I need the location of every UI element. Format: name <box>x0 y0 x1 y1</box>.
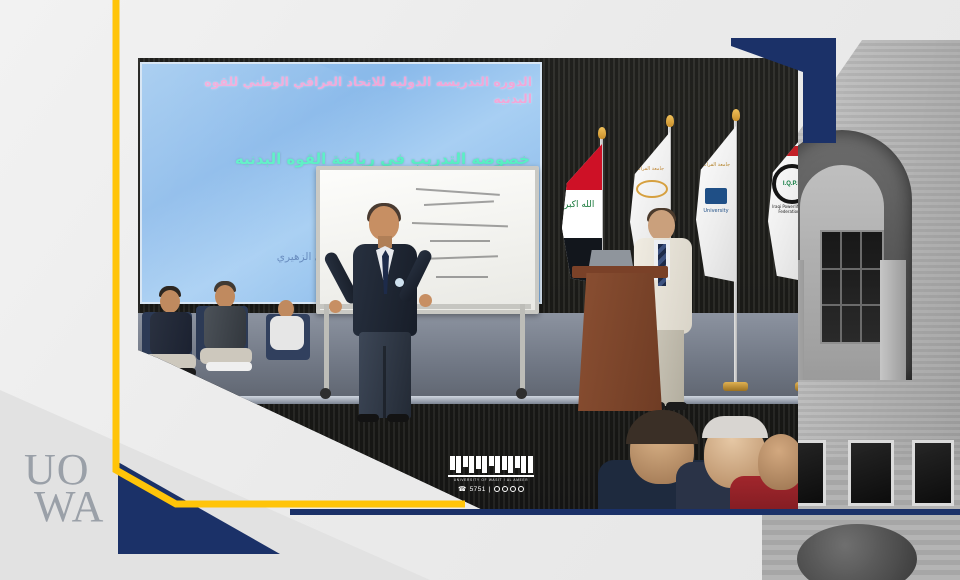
whiteboard-wheel-right <box>516 388 527 399</box>
phone-icon: ☎ <box>458 485 467 493</box>
uowa-watermark: UO WA <box>24 452 120 526</box>
navy-horizontal-rule <box>290 509 960 515</box>
wall-logo-contact: ☎ 5751 | <box>443 485 539 493</box>
iraq-flag-text: الله اكبر <box>564 200 594 210</box>
poster-canvas: الدوره التدريسه الدوليه للاتحاد العراقي … <box>0 0 960 580</box>
whiteboard-leg-right <box>520 304 525 394</box>
wall-logo: UNIVERSITY OF WASIT / AL AMEER ☎ 5751 | <box>443 456 539 493</box>
podium <box>578 273 662 411</box>
iqpf-flag-sub: Iraqi Powerlifting Federation <box>770 204 798 214</box>
university-flag-2-label: University <box>700 208 732 214</box>
slide-title: الدوره التدريسه الدوليه للاتحاد العراقي … <box>162 74 532 108</box>
wall-logo-subtitle: UNIVERSITY OF WASIT / AL AMEER <box>443 478 539 482</box>
kufic-wordmark <box>448 456 534 478</box>
whiteboard-leg-left <box>324 304 329 394</box>
divider: | <box>489 486 491 493</box>
wall-logo-phone: 5751 <box>470 486 486 493</box>
iqpf-flag-label: I.Q.P.F <box>783 181 798 187</box>
whiteboard-wheel-left <box>320 388 331 399</box>
uowa-line-2: WA <box>34 489 120 526</box>
presenter-figure <box>343 206 427 421</box>
social-icons <box>494 486 524 492</box>
